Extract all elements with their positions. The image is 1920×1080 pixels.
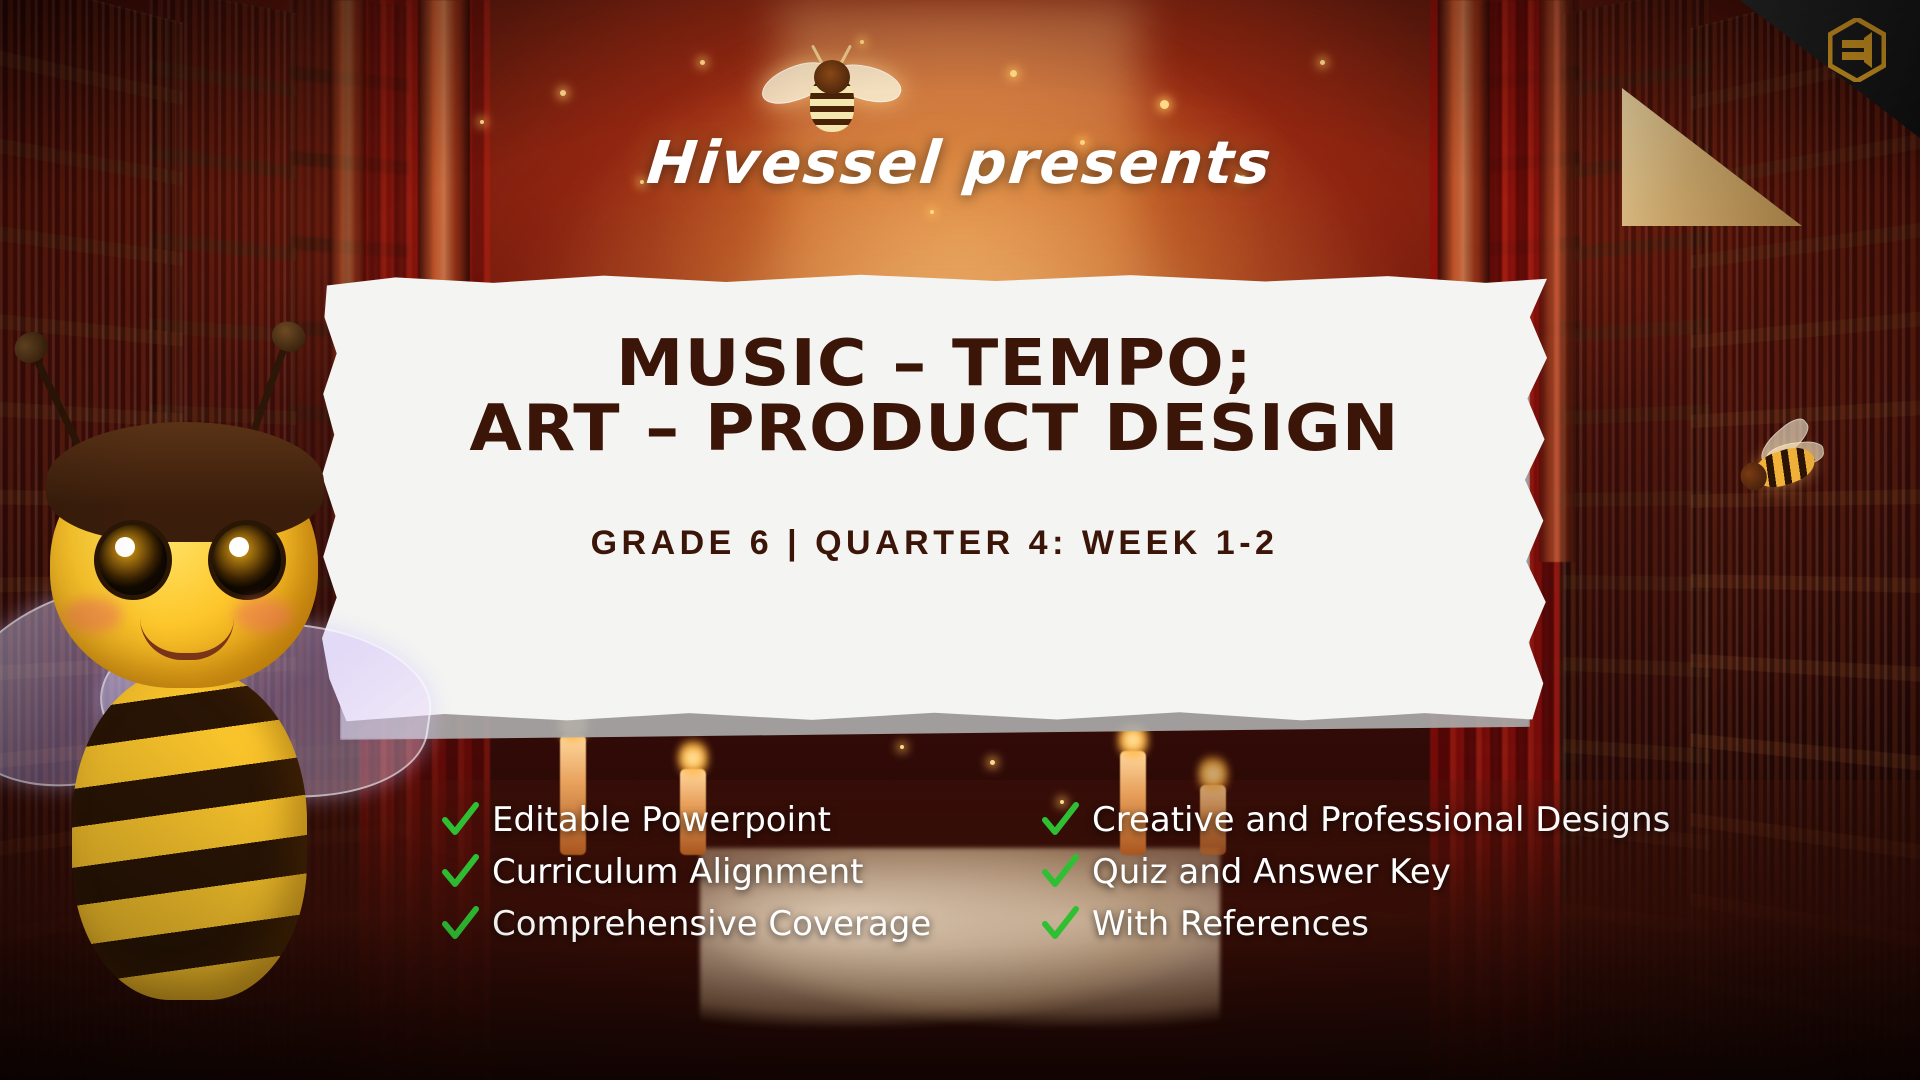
mascot-eye-right — [208, 520, 286, 600]
feature-label: Editable Powerpoint — [492, 800, 831, 840]
list-item: Creative and Professional Designs — [1040, 800, 1870, 840]
title-card: MUSIC – TEMPO; ART – PRODUCT DESIGN GRAD… — [322, 272, 1547, 724]
slide-canvas: Hivessel presents MUSIC – TEMPO; ART – P… — [0, 0, 1920, 1080]
hexagon-hive-logo-icon[interactable] — [1828, 18, 1886, 82]
page-title: MUSIC – TEMPO; ART – PRODUCT DESIGN — [285, 332, 1584, 463]
list-item: Editable Powerpoint — [440, 800, 1040, 840]
feature-label: Quiz and Answer Key — [1092, 852, 1451, 892]
title-line-1: MUSIC – TEMPO; — [285, 332, 1584, 397]
list-item: Quiz and Answer Key — [1040, 852, 1870, 892]
list-item: Curriculum Alignment — [440, 852, 1040, 892]
feature-label: Curriculum Alignment — [492, 852, 863, 892]
grade-quarter-subtitle: GRADE 6 | QUARTER 4: WEEK 1-2 — [322, 524, 1547, 563]
mascot-blush-left — [64, 598, 122, 632]
green-check-icon — [1040, 852, 1080, 892]
green-check-icon — [1040, 904, 1080, 944]
mascot-blush-right — [234, 598, 292, 632]
list-item: With References — [1040, 904, 1870, 944]
feature-label: With References — [1092, 904, 1369, 944]
title-line-2: ART – PRODUCT DESIGN — [285, 397, 1584, 462]
feature-list: Editable Powerpoint Creative and Profess… — [440, 800, 1870, 944]
mascot-eye-left — [94, 520, 172, 600]
feature-label: Creative and Professional Designs — [1092, 800, 1670, 840]
bee-mascot: HIVE SSEL 35 15 30LD — [0, 370, 460, 1080]
list-item: Comprehensive Coverage — [440, 904, 1040, 944]
feature-label: Comprehensive Coverage — [492, 904, 931, 944]
mascot-body — [72, 670, 307, 1000]
green-check-icon — [1040, 800, 1080, 840]
mascot-hair — [46, 422, 324, 542]
